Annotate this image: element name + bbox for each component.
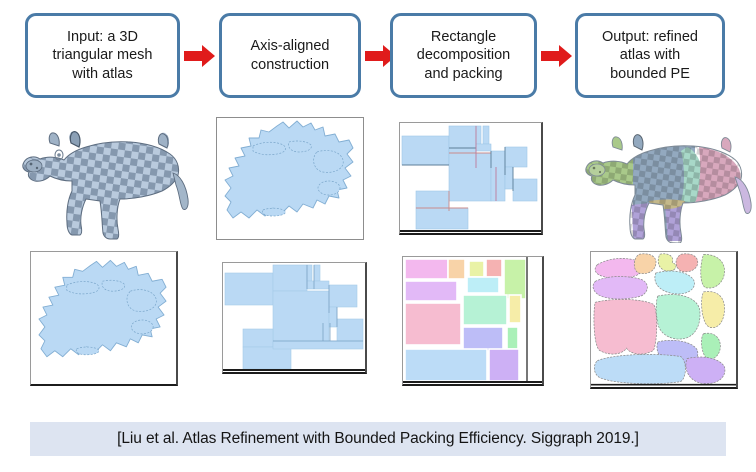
pipeline-box-axis-line-1: Axis-aligned — [251, 37, 330, 56]
pipeline-box-output[interactable]: Output: refined atlas with bounded PE — [575, 13, 725, 98]
pipeline-box-axis-aligned[interactable]: Axis-aligned construction — [219, 13, 361, 98]
arrow-3-icon — [541, 44, 573, 68]
pipeline-box-input-line-2: triangular mesh — [53, 46, 153, 65]
figure-caption: [Liu et al. Atlas Refinement with Bounde… — [30, 422, 726, 456]
pipeline-box-output-line-1: Output: refined — [602, 28, 698, 47]
panel-output-mesh — [575, 113, 756, 243]
pipeline-box-rect-line-2: decomposition — [417, 46, 511, 65]
panel-input-atlas — [216, 117, 364, 240]
panel-atlas-duplicate — [30, 251, 178, 386]
pipeline-box-output-line-3: bounded PE — [602, 65, 698, 84]
pipeline-box-rect-line-3: and packing — [417, 65, 511, 84]
panel-refined-atlas — [590, 251, 738, 389]
pipeline-box-rectangle[interactable]: Rectangle decomposition and packing — [390, 13, 537, 98]
panel-packing — [402, 256, 544, 386]
panel-axis-aligned — [222, 262, 367, 374]
pipeline-box-rect-line-1: Rectangle — [417, 28, 511, 47]
pipeline-box-axis-line-2: construction — [251, 56, 330, 75]
figure-root: Input: a 3D triangular mesh with atlas A… — [0, 0, 756, 472]
arrow-1-icon — [184, 44, 216, 68]
pipeline-box-input-line-3: with atlas — [53, 65, 153, 84]
pipeline-box-input-line-1: Input: a 3D — [53, 28, 153, 47]
panel-input-mesh — [10, 113, 200, 243]
pipeline-box-output-line-2: atlas with — [602, 46, 698, 65]
panel-rectangle-decomposition — [399, 122, 543, 235]
pipeline-box-input[interactable]: Input: a 3D triangular mesh with atlas — [25, 13, 180, 98]
